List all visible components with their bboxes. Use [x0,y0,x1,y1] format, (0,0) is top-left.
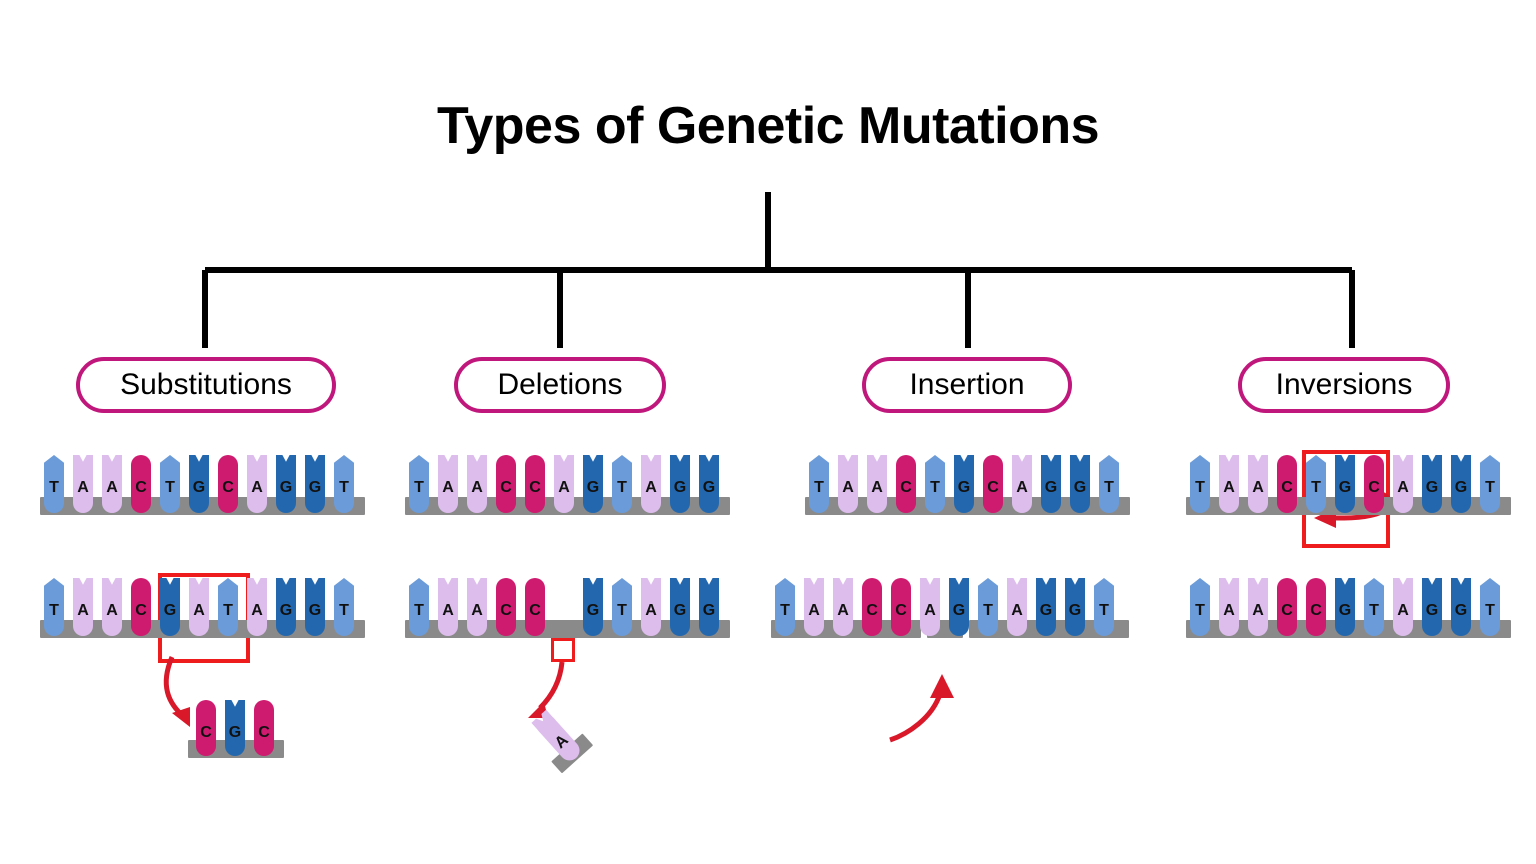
base-T: T [925,455,945,513]
base-letter: C [131,602,151,620]
base-G: G [1036,578,1056,636]
base-G: G [670,455,690,513]
base-letter: G [1036,602,1056,620]
base-letter: T [44,479,64,497]
base-letter: G [1335,479,1355,497]
base-letter: C [218,479,238,497]
base-letter: G [583,479,603,497]
base-A: A [1393,455,1413,513]
base-T: T [775,578,795,636]
base-G: G [670,578,690,636]
base-letter: A [467,602,487,620]
base-T: T [44,455,64,513]
base-C: C [196,700,216,756]
base-letter: G [949,602,969,620]
page-title: Types of Genetic Mutations [0,100,1536,152]
base-A: A [1248,578,1268,636]
base-T: T [1306,455,1326,513]
base-A: A [1393,578,1413,636]
base-G: G [1335,455,1355,513]
base-letter: A [804,602,824,620]
diagram-root: Types of Genetic Mutations Substitutions… [0,0,1536,864]
base-letter: T [409,602,429,620]
base-letter: C [496,479,516,497]
base-letter: G [305,602,325,620]
base-A: A [467,578,487,636]
base-letter: T [334,479,354,497]
category-pill-insertion[interactable]: Insertion [862,357,1072,413]
base-letter: C [983,479,1003,497]
base-C: C [131,578,151,636]
base-letter: A [1219,602,1239,620]
base-letter: C [254,724,274,742]
base-letter: T [1190,479,1210,497]
base-T: T [1364,578,1384,636]
base-letter: T [1099,479,1119,497]
base-C: C [1277,578,1297,636]
base-G: G [583,455,603,513]
base-letter: C [896,479,916,497]
category-label: Insertion [909,368,1024,402]
base-A: A [73,578,93,636]
base-G: G [305,455,325,513]
base-A: A [804,578,824,636]
base-G: G [583,578,603,636]
base-G: G [1335,578,1355,636]
base-letter: T [1364,602,1384,620]
base-letter: C [1277,479,1297,497]
base-G: G [699,455,719,513]
base-letter: G [276,602,296,620]
base-letter: A [247,479,267,497]
base-C: C [496,578,516,636]
base-letter: G [160,602,180,620]
base-T: T [1480,455,1500,513]
base-C: C [218,455,238,513]
base-letter: C [525,479,545,497]
base-letter: T [409,479,429,497]
base-G: G [949,578,969,636]
deletion-gap-marker [551,638,575,662]
base-letter: A [1219,479,1239,497]
base-A: A [1219,578,1239,636]
base-A: A [920,578,940,636]
base-G: G [1451,455,1471,513]
base-letter: A [102,479,122,497]
base-A: A [1248,455,1268,513]
base-T: T [1190,578,1210,636]
base-A: A [1012,455,1032,513]
base-letter: A [467,479,487,497]
base-G: G [1070,455,1090,513]
base-letter: T [612,479,632,497]
base-C: C [983,455,1003,513]
base-letter: A [641,479,661,497]
base-letter: T [612,602,632,620]
base-T: T [1480,578,1500,636]
base-letter: G [699,479,719,497]
base-letter: G [670,602,690,620]
base-letter: G [225,724,245,742]
base-C: C [1364,455,1384,513]
base-G: G [189,455,209,513]
base-G: G [1422,578,1442,636]
base-T: T [218,578,238,636]
base-letter: G [583,602,603,620]
base-letter: T [978,602,998,620]
strand-original-substitutions: TAACTGCAGGT [44,455,363,535]
base-letter: T [44,602,64,620]
base-T: T [334,455,354,513]
base-letter: A [247,602,267,620]
base-A: A [438,455,458,513]
base-C: C [254,700,274,756]
base-letter: A [1393,602,1413,620]
base-letter: A [1012,479,1032,497]
base-T: T [978,578,998,636]
base-letter: G [189,479,209,497]
base-letter: A [641,602,661,620]
base-G: G [1451,578,1471,636]
base-C: C [1277,455,1297,513]
base-T: T [409,578,429,636]
strand-original-deletions: TAACCAGTAGG [409,455,728,535]
category-label: Substitutions [120,368,292,402]
strand-mutated-insertion: TAACCAGTAGGT [775,578,1123,658]
base-G: G [1041,455,1061,513]
deleted-base-A: A [523,700,596,774]
base-letter: A [438,479,458,497]
base-letter: G [1422,602,1442,620]
base-C: C [496,455,516,513]
base-letter: C [1277,602,1297,620]
base-letter: T [1094,602,1114,620]
base-letter: G [1422,479,1442,497]
base-A: A [247,578,267,636]
base-letter: T [1480,602,1500,620]
base-letter: T [809,479,829,497]
category-pill-deletions[interactable]: Deletions [454,357,666,413]
base-G: G [954,455,974,513]
base-letter: C [891,602,911,620]
base-letter: T [1480,479,1500,497]
base-A: A [467,455,487,513]
base-C: C [525,578,545,636]
base-A: A [833,578,853,636]
base-C: C [891,578,911,636]
base-letter: C [525,602,545,620]
base-letter: G [1070,479,1090,497]
base-letter: T [334,602,354,620]
base-letter: A [833,602,853,620]
base-G: G [276,578,296,636]
base-letter: T [218,602,238,620]
base-letter: A [189,602,209,620]
base-C: C [1306,578,1326,636]
base-letter: A [867,479,887,497]
base-letter: C [196,724,216,742]
base-letter: T [775,602,795,620]
base-letter: G [699,602,719,620]
base-T: T [1099,455,1119,513]
base-A: A [867,455,887,513]
base-A: A [1007,578,1027,636]
base-G: G [699,578,719,636]
base-letter: T [160,479,180,497]
base-letter: G [1041,479,1061,497]
strand-mutated-inversions: TAACCGTAGGT [1190,578,1509,658]
base-A: A [189,578,209,636]
base-letter: G [1451,602,1471,620]
base-A: A [1219,455,1239,513]
base-A: A [73,455,93,513]
base-letter: A [1248,479,1268,497]
base-letter: A [1393,479,1413,497]
base-T: T [1190,455,1210,513]
strand-fragment-substitutions: CGC [196,700,283,778]
category-label: Inversions [1276,368,1413,402]
base-C: C [896,455,916,513]
base-T: T [809,455,829,513]
base-A: A [641,578,661,636]
base-T: T [334,578,354,636]
base-C: C [131,455,151,513]
base-letter: C [862,602,882,620]
base-letter: A [1248,602,1268,620]
base-A: A [438,578,458,636]
base-letter: C [1306,602,1326,620]
base-A: A [102,455,122,513]
base-G: G [225,700,245,756]
base-G: G [1065,578,1085,636]
base-C: C [862,578,882,636]
base-A: A [247,455,267,513]
base-letter: T [1190,602,1210,620]
base-letter: A [102,602,122,620]
base-T: T [612,578,632,636]
base-T: T [160,455,180,513]
base-T: T [409,455,429,513]
base-G: G [305,578,325,636]
base-letter: G [276,479,296,497]
base-letter: G [954,479,974,497]
base-letter: T [1306,479,1326,497]
base-letter: A [438,602,458,620]
base-A: A [554,455,574,513]
base-letter: A [73,479,93,497]
base-G: G [1422,455,1442,513]
base-letter: A [1007,602,1027,620]
base-letter: A [920,602,940,620]
base-letter: A [838,479,858,497]
base-A: A [641,455,661,513]
base-A: A [102,578,122,636]
base-letter: C [131,479,151,497]
base-letter: T [925,479,945,497]
base-letter: G [670,479,690,497]
category-pill-substitutions[interactable]: Substitutions [76,357,336,413]
insertion-arrow [880,660,990,750]
base-letter: C [496,602,516,620]
base-G: G [160,578,180,636]
base-G: G [276,455,296,513]
base-letter: G [1451,479,1471,497]
base-A: A [838,455,858,513]
base-T: T [1094,578,1114,636]
base-C: C [525,455,545,513]
category-pill-inversions[interactable]: Inversions [1238,357,1450,413]
base-letter: G [1335,602,1355,620]
category-label: Deletions [497,368,622,402]
base-letter: A [554,479,574,497]
base-letter: G [305,479,325,497]
base-T: T [612,455,632,513]
base-letter: A [73,602,93,620]
base-T: T [44,578,64,636]
base-letter: C [1364,479,1384,497]
base-letter: G [1065,602,1085,620]
strand-original-insertion: TAACTGCAGGT [809,455,1128,535]
